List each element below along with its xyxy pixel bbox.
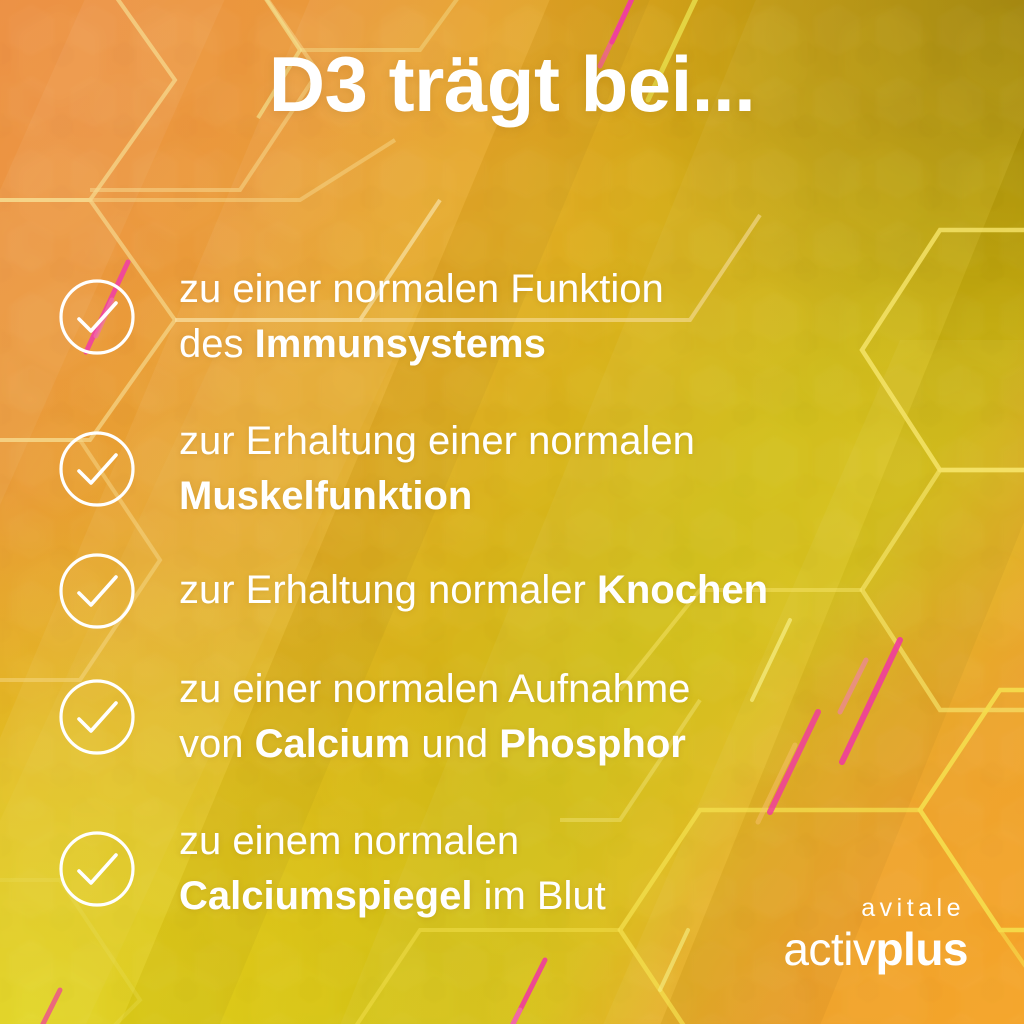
list-item-label: zu einer normalen Aufnahme von Calcium u… (179, 662, 690, 772)
list-item-label: zu einer normalen Funktion des Immunsyst… (179, 262, 664, 372)
list-item: zu einer normalen Funktion des Immunsyst… (58, 262, 664, 372)
list-item: zu einer normalen Aufnahme von Calcium u… (58, 662, 690, 772)
check-circle-icon (58, 430, 136, 508)
list-item-label: zur Erhaltung einer normalen Muskelfunkt… (179, 414, 695, 524)
list-item: zu einem normalen Calciumspiegel im Blut (58, 814, 606, 924)
brand-plus: plus (875, 923, 968, 975)
check-circle-icon (58, 678, 136, 756)
page-title: D3 trägt bei... (0, 45, 1024, 123)
brand-name-activplus: activplus (783, 926, 968, 972)
poster-content: D3 trägt bei... zu einer normalen Funkti… (0, 0, 1024, 1024)
poster-canvas: D3 trägt bei... zu einer normalen Funkti… (0, 0, 1024, 1024)
check-circle-icon (58, 552, 136, 630)
brand-activ: activ (783, 923, 875, 975)
brand-logo: avitale activplus (783, 896, 968, 972)
check-circle-icon (58, 830, 136, 908)
list-item-label: zur Erhaltung normaler Knochen (179, 563, 768, 618)
list-item-label: zu einem normalen Calciumspiegel im Blut (179, 814, 606, 924)
brand-name-avitale: avitale (783, 896, 965, 921)
list-item: zur Erhaltung normaler Knochen (58, 552, 768, 630)
list-item: zur Erhaltung einer normalen Muskelfunkt… (58, 414, 695, 524)
check-circle-icon (58, 278, 136, 356)
